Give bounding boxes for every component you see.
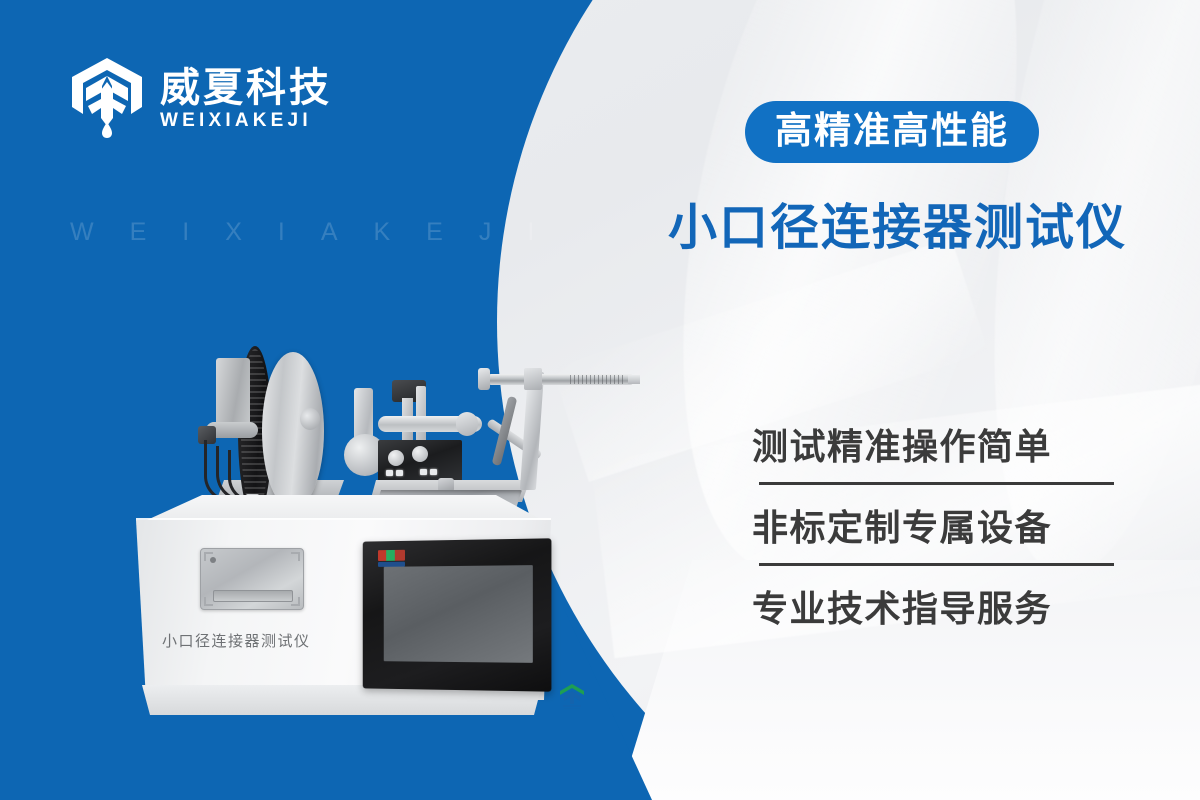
pulley-hub xyxy=(300,408,320,430)
company-emblem-icon xyxy=(557,682,587,710)
indicator-led xyxy=(430,469,437,475)
brand-logo-text: 威夏科技 WEIXIAKEJI xyxy=(160,67,332,130)
access-panel-icon xyxy=(200,548,304,610)
stage-knob xyxy=(388,450,404,466)
drive-pulley xyxy=(262,352,324,510)
feature-item: 测试精准操作简单 xyxy=(752,424,1118,485)
feature-divider xyxy=(759,563,1114,566)
feature-label: 测试精准操作简单 xyxy=(752,424,1118,470)
indicator-led xyxy=(386,470,393,476)
feature-list: 测试精准操作简单 非标定制专属设备 专业技术指导服务 xyxy=(752,424,1118,632)
panel-corner xyxy=(204,552,213,561)
highlight-badge: 高精准高性能 xyxy=(745,101,1039,163)
highlight-badge-label: 高精准高性能 xyxy=(775,112,1009,149)
hmi-touchscreen-icon[interactable] xyxy=(363,538,552,691)
hmi-brand-label xyxy=(378,550,405,561)
panel-corner xyxy=(291,552,300,561)
hmi-display[interactable] xyxy=(384,565,533,663)
product-image: 威夏科技 小口径连接器测试仪 xyxy=(120,330,690,750)
feature-divider xyxy=(759,482,1114,485)
shaft-tip xyxy=(628,375,640,384)
product-banner: WEIXIAKEJI 威夏科技 WEIXIAKEJI 高精准高性能 小口径连接器… xyxy=(0,0,1200,800)
motor-block xyxy=(216,358,250,428)
brand-name-cn: 威夏科技 xyxy=(160,67,332,109)
hexagon-arrow-logo-icon xyxy=(68,56,146,140)
brand-watermark: WEIXIAKEJI xyxy=(70,218,570,247)
page-title: 小口径连接器测试仪 xyxy=(668,198,1127,259)
machine-body-label: 小口径连接器测试仪 xyxy=(162,630,311,651)
rail-end-cap xyxy=(456,412,478,436)
lever-foot xyxy=(438,478,454,492)
panel-slot xyxy=(213,590,293,602)
feature-label: 专业技术指导服务 xyxy=(752,586,1118,632)
brand-name-en: WEIXIAKEJI xyxy=(160,111,332,130)
feature-item: 非标定制专属设备 xyxy=(752,505,1118,566)
shaft-head xyxy=(478,368,490,390)
indicator-led xyxy=(396,470,403,476)
panel-corner xyxy=(291,597,300,606)
brand-logo: 威夏科技 WEIXIAKEJI xyxy=(68,56,332,140)
shaft-collar xyxy=(524,368,542,390)
stage-knob xyxy=(412,446,428,462)
panel-corner xyxy=(204,597,213,606)
shaft-knurling xyxy=(570,375,624,384)
feature-label: 非标定制专属设备 xyxy=(752,505,1118,551)
feature-item: 专业技术指导服务 xyxy=(752,586,1118,632)
indicator-led xyxy=(420,469,427,475)
